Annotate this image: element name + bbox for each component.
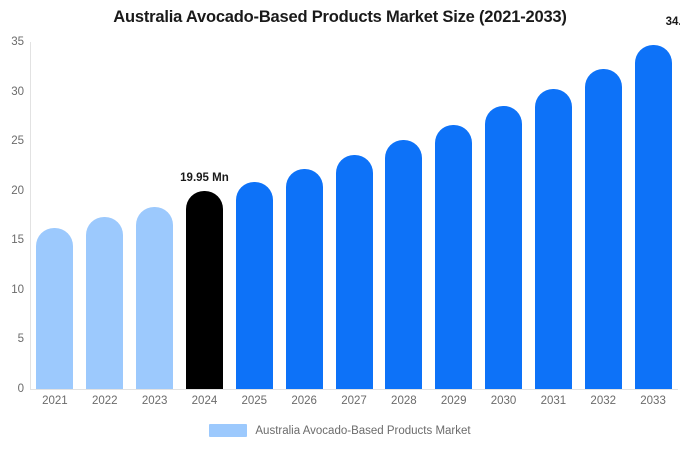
- y-axis-tick-label: 35: [0, 36, 24, 48]
- x-axis-tick-label: 2027: [341, 395, 367, 407]
- x-axis-tick-label: 2031: [541, 395, 567, 407]
- x-axis-tick-label: 2026: [291, 395, 317, 407]
- bar-2032[interactable]: [585, 69, 622, 389]
- bar-2030[interactable]: [485, 106, 522, 389]
- x-axis-tick-label: 2032: [590, 395, 616, 407]
- y-axis-tick-label: 0: [0, 383, 24, 395]
- chart-legend: Australia Avocado-Based Products Market: [0, 424, 680, 437]
- y-axis-tick-label: 25: [0, 135, 24, 147]
- y-axis-tick-label: 5: [0, 333, 24, 345]
- chart-title: Australia Avocado-Based Products Market …: [0, 8, 680, 27]
- bar-2028[interactable]: [385, 140, 422, 389]
- y-axis-tick-label: 15: [0, 234, 24, 246]
- bar-2022[interactable]: [86, 217, 123, 390]
- legend-label: Australia Avocado-Based Products Market: [255, 425, 470, 437]
- bar-2027[interactable]: [336, 155, 373, 389]
- bar-2033[interactable]: [635, 45, 672, 389]
- y-axis-tick-label: 30: [0, 86, 24, 98]
- x-axis-tick-label: 2023: [142, 395, 168, 407]
- x-axis-tick-label: 2029: [441, 395, 467, 407]
- x-axis-tick-label: 2022: [92, 395, 118, 407]
- x-axis-tick-label: 2033: [640, 395, 666, 407]
- y-axis-tick-label: 20: [0, 185, 24, 197]
- bar-2025[interactable]: [236, 182, 273, 389]
- bar-chart: Australia Avocado-Based Products Market …: [0, 0, 680, 450]
- bar-2031[interactable]: [535, 89, 572, 389]
- legend-swatch: [209, 424, 247, 437]
- x-axis-tick-label: 2021: [42, 395, 68, 407]
- x-axis-tick-label: 2025: [242, 395, 268, 407]
- value-label-2024: 19.95 Mn: [180, 172, 229, 184]
- x-axis-tick-label: 2024: [192, 395, 218, 407]
- bar-2029[interactable]: [435, 125, 472, 389]
- y-axis-tick-label: 10: [0, 284, 24, 296]
- value-label-2033: 34.70 Mn: [666, 16, 680, 28]
- bar-2021[interactable]: [36, 228, 73, 389]
- bar-2026[interactable]: [286, 169, 323, 389]
- x-axis-line: [30, 389, 678, 390]
- plot-area: 05101520253035 2021202220232024202520262…: [30, 42, 678, 389]
- bar-2024[interactable]: [186, 191, 223, 389]
- x-axis-tick-label: 2028: [391, 395, 417, 407]
- y-axis-line: [30, 42, 31, 389]
- x-axis-tick-label: 2030: [491, 395, 517, 407]
- bar-2023[interactable]: [136, 207, 173, 389]
